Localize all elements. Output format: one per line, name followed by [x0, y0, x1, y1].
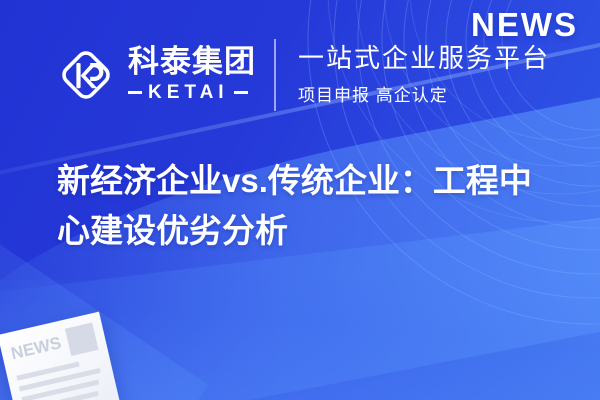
newspaper-image-placeholder: [65, 322, 99, 356]
slogan-block: 一站式企业服务平台 项目申报 高企认定: [298, 44, 550, 106]
logo-text-block: 科泰集团 KETAI: [128, 46, 256, 104]
newspaper-heading: NEWS: [9, 334, 63, 362]
dash-right-icon: [234, 91, 248, 94]
banner-header: 科泰集团 KETAI 一站式企业服务平台 项目申报 高企认定: [56, 38, 550, 112]
slogan-sub: 项目申报 高企认定: [298, 81, 550, 106]
news-banner: NEWS 科泰集团 KETAI 一站式企业服务平台 项目: [0, 0, 600, 400]
company-name-en: KETAI: [148, 82, 229, 104]
page-title: 新经济企业vs.传统企业：工程中心建设优劣分析: [57, 156, 557, 256]
dash-left-icon: [128, 91, 142, 94]
header-divider: [274, 39, 276, 111]
company-name-cn: 科泰集团: [128, 46, 256, 78]
ketai-kp-diamond-logo: [56, 45, 116, 105]
company-name-en-row: KETAI: [128, 82, 256, 104]
slogan-main: 一站式企业服务平台: [298, 44, 550, 74]
